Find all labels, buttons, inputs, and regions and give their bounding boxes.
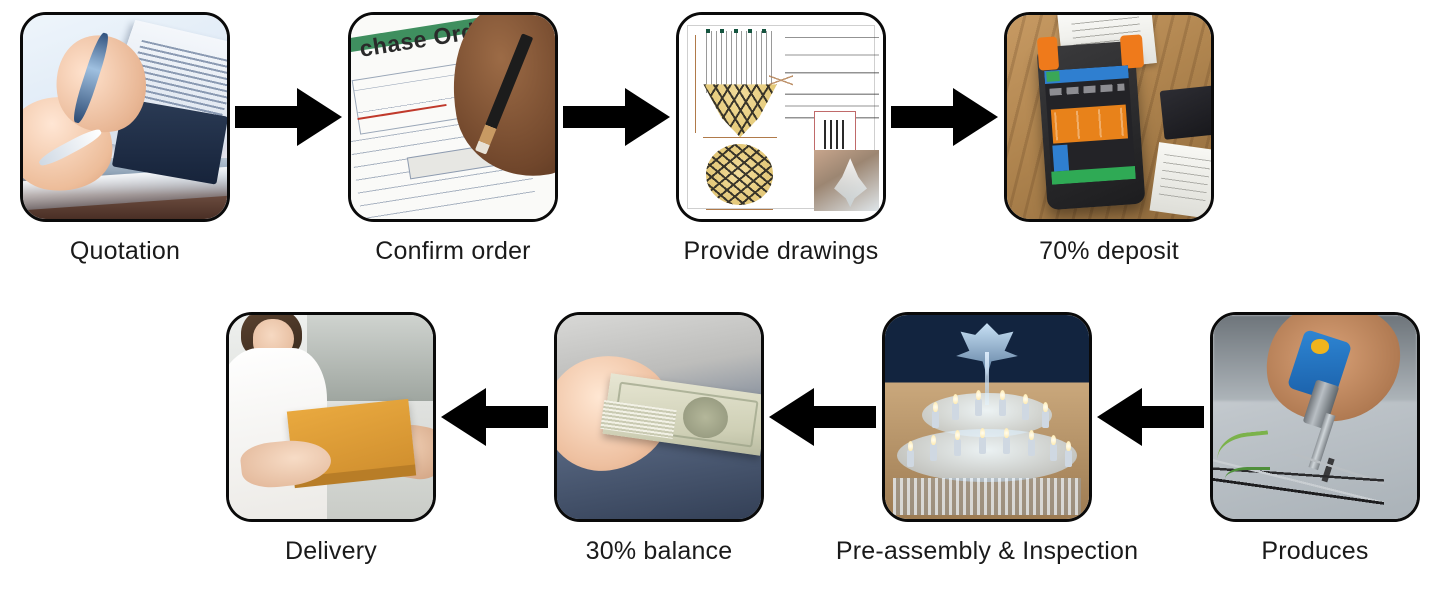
process-step-quotation[interactable]: Quotation [20, 12, 230, 266]
purchase-order-form-photo: chase Order [351, 15, 555, 219]
arrow-left-icon [436, 312, 554, 522]
process-flow-diagram: Quotation chase Order Confirm order [0, 0, 1440, 600]
step-label: 30% balance [586, 538, 733, 566]
step-image-card[interactable] [554, 312, 764, 522]
process-row-bottom: Produces [0, 300, 1440, 600]
step-label: Delivery [285, 538, 377, 566]
process-step-produces[interactable]: Produces [1210, 312, 1420, 566]
hands-signing-document-photo [23, 15, 227, 219]
soldering-wires-photo [1213, 315, 1417, 519]
arrow-right-icon [886, 12, 1004, 222]
step-label: Pre-assembly & Inspection [836, 538, 1138, 566]
hand-holding-cash-photo [557, 315, 761, 519]
step-label: Quotation [70, 238, 180, 266]
crystal-chandelier-photo [885, 315, 1089, 519]
arrow-left-icon [1092, 312, 1210, 522]
process-row-top: Quotation chase Order Confirm order [0, 0, 1440, 300]
step-image-card[interactable] [1210, 312, 1420, 522]
arrow-left-icon [764, 312, 882, 522]
process-step-deposit[interactable]: 70% deposit [1004, 12, 1214, 266]
package-handover-photo [229, 315, 433, 519]
arrow-right-icon [230, 12, 348, 222]
step-image-card[interactable] [1004, 12, 1214, 222]
step-label: 70% deposit [1039, 238, 1179, 266]
step-image-card[interactable]: chase Order [348, 12, 558, 222]
step-label: Confirm order [375, 238, 530, 266]
step-image-card[interactable] [882, 312, 1092, 522]
process-step-provide-drawings[interactable]: Provide drawings [676, 12, 886, 266]
step-label: Produces [1261, 538, 1368, 566]
process-step-balance[interactable]: 30% balance [554, 312, 764, 566]
arrow-right-icon [558, 12, 676, 222]
step-label: Provide drawings [684, 238, 879, 266]
process-step-delivery[interactable]: Delivery [226, 312, 436, 566]
process-step-pre-assembly-inspection[interactable]: Pre-assembly & Inspection [882, 312, 1092, 566]
step-image-card[interactable] [226, 312, 436, 522]
process-step-confirm-order[interactable]: chase Order Confirm order [348, 12, 558, 266]
technical-drawing-photo [679, 15, 883, 219]
pos-payment-terminal-photo [1007, 15, 1211, 219]
step-image-card[interactable] [20, 12, 230, 222]
step-image-card[interactable] [676, 12, 886, 222]
